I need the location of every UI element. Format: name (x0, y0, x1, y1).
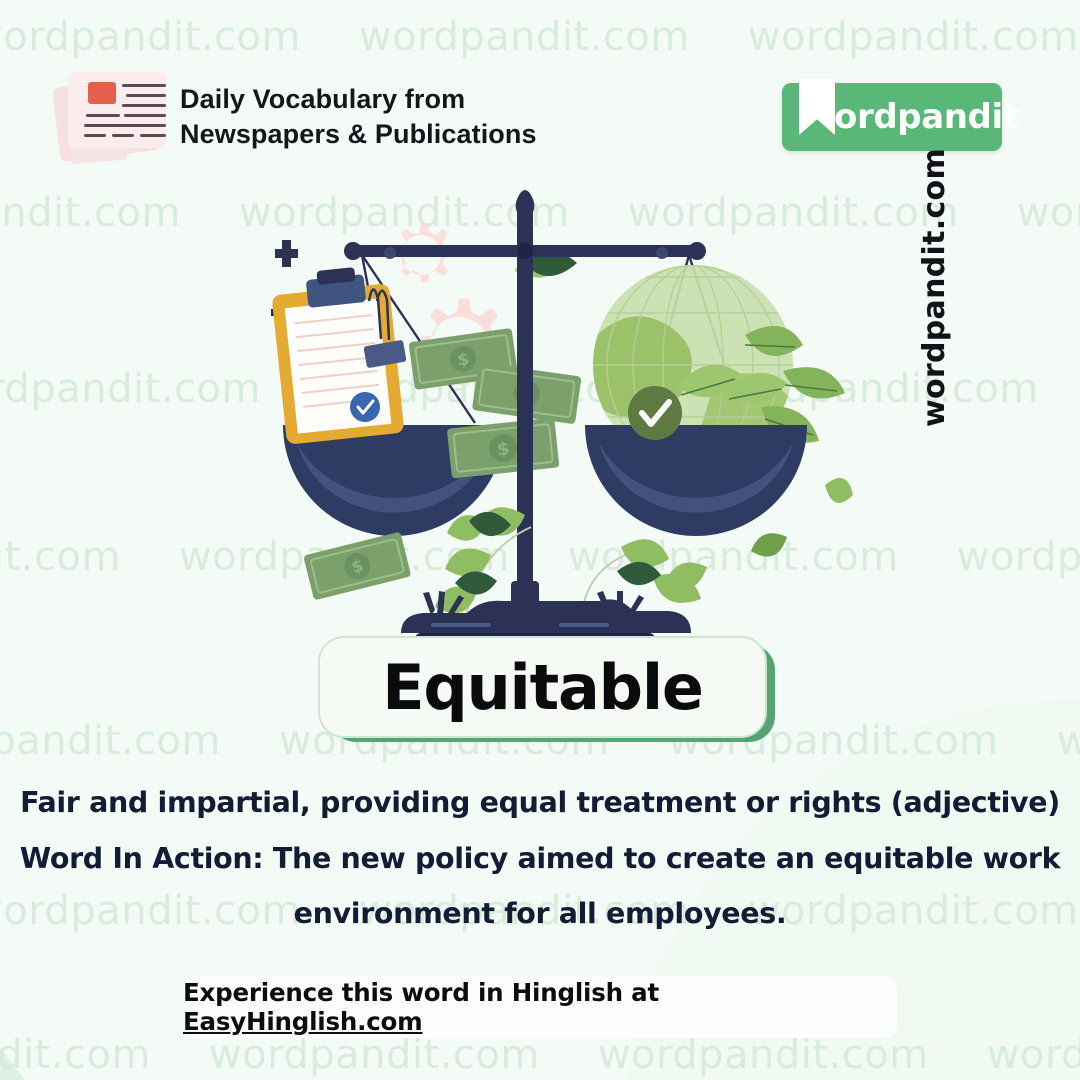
poster-canvas: wordpandit.comwordpandit.comwordpandit.c… (0, 0, 1080, 1080)
title-line-2: Newspapers & Publications (180, 117, 537, 152)
definition-block: Fair and impartial, providing equal trea… (0, 775, 1080, 942)
bookmark-icon (799, 79, 835, 135)
title-line-1: Daily Vocabulary from (180, 82, 537, 117)
logo-label: ordpandit (834, 97, 1019, 137)
svg-text:$: $ (496, 438, 511, 460)
vocabulary-word: Equitable (382, 651, 702, 724)
word-card: Equitable (318, 636, 767, 738)
newspaper-icon (56, 72, 174, 162)
balance-scale-illustration: $ $ $ $ (225, 185, 865, 665)
wordpandit-logo[interactable]: ordpandit (782, 83, 1002, 151)
definition-line-3: environment for all employees. (0, 886, 1080, 942)
side-brand-text: wordpandit.com (917, 148, 952, 427)
footer-prefix: Experience this word in Hinglish at (183, 978, 659, 1007)
page-title: Daily Vocabulary from Newspapers & Publi… (180, 82, 537, 151)
right-pan (585, 425, 807, 536)
easyhinglish-link[interactable]: EasyHinglish.com (183, 1007, 423, 1036)
footer-text: Experience this word in Hinglish at Easy… (183, 978, 897, 1036)
definition-line-2: Word In Action: The new policy aimed to … (0, 831, 1080, 887)
footer-banner: Experience this word in Hinglish at Easy… (183, 976, 897, 1038)
check-badge-icon (628, 386, 682, 440)
definition-line-1: Fair and impartial, providing equal trea… (0, 775, 1080, 831)
